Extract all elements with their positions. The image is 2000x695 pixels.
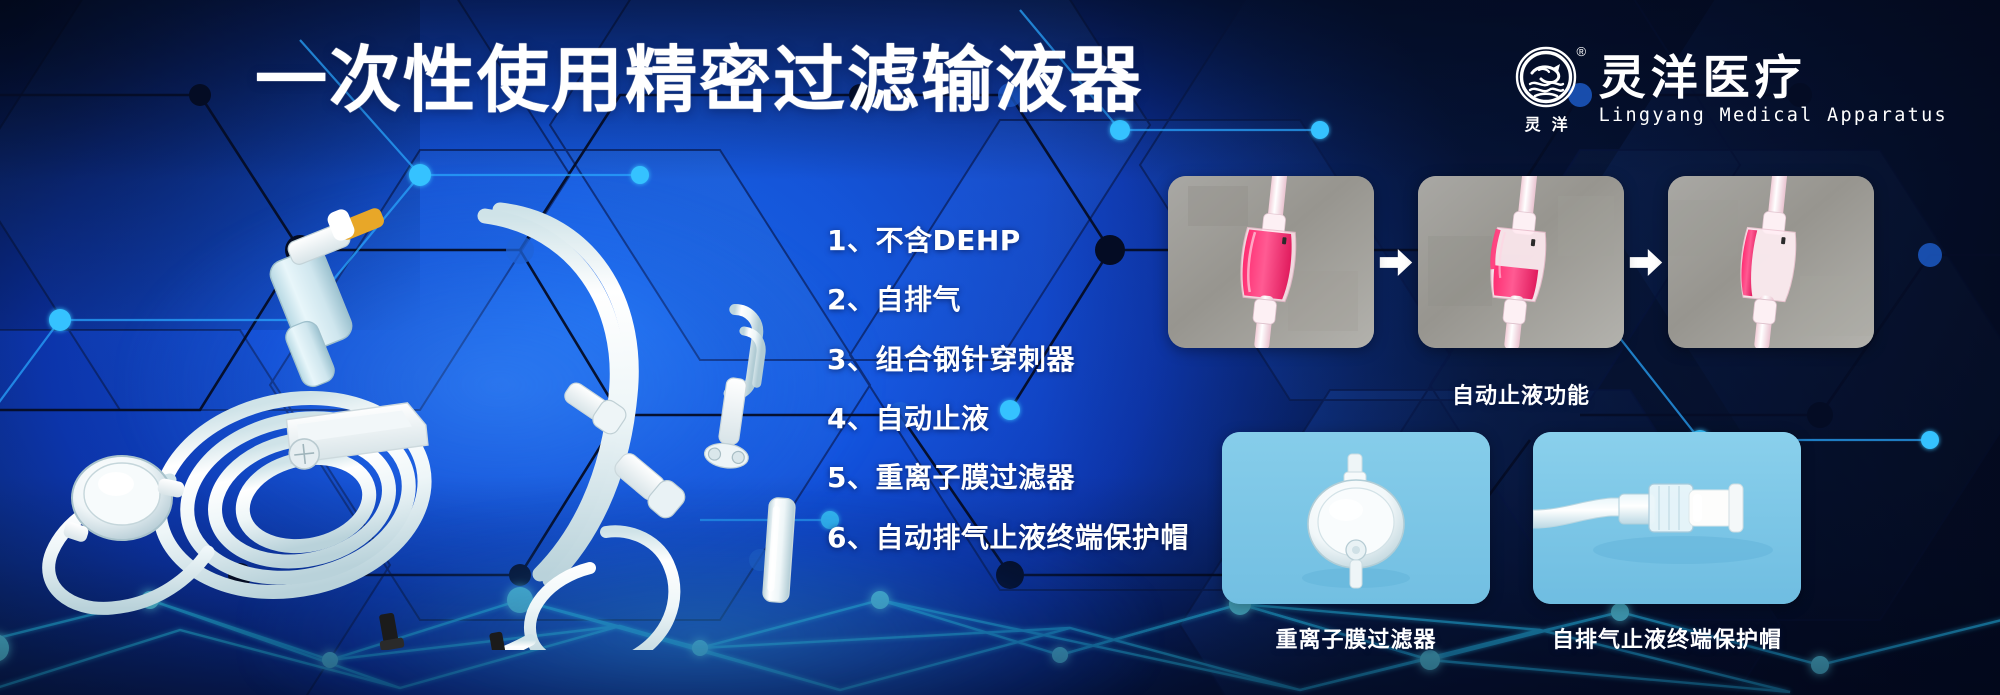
component-caption-row: 重离子膜过滤器 自排气止液终端保护帽 (1222, 622, 1801, 654)
photo-chamber-full (1168, 176, 1374, 348)
brand-seal-block: ® 灵洋 (1514, 46, 1579, 135)
feature-item-3: 3、组合钢针穿刺器 (827, 344, 1189, 375)
sequence-arrow-2-icon (1624, 176, 1668, 348)
feature-item-2: 2、自排气 (827, 284, 1189, 315)
brand-name-en: Lingyang Medical Apparatus (1599, 105, 1948, 126)
sequence-arrow-1-icon (1374, 176, 1418, 348)
photo-self-venting-terminal-cap (1533, 432, 1801, 604)
brand-logo: ® 灵洋 灵洋医疗 Lingyang Medical Apparatus (1514, 44, 1948, 136)
photo-chamber-half (1418, 176, 1624, 348)
product-banner: 一次性使用精密过滤输液器 ® 灵洋 灵洋医疗 (0, 0, 2000, 695)
caption-terminal-cap: 自排气止液终端保护帽 (1533, 622, 1801, 654)
page-title: 一次性使用精密过滤输液器 (255, 44, 1143, 116)
photo-chamber-empty (1668, 176, 1874, 348)
feature-item-6: 6、自动排气止液终端保护帽 (827, 522, 1189, 553)
registered-trademark-icon: ® (1577, 45, 1587, 58)
feature-item-1: 1、不含DEHP (827, 225, 1189, 256)
feature-item-4: 4、自动止液 (827, 403, 1189, 434)
feature-list: 1、不含DEHP 2、自排气 3、组合钢针穿刺器 4、自动止液 5、重离子膜过滤… (827, 225, 1189, 553)
photo-heavy-ion-membrane-filter (1222, 432, 1490, 604)
brand-name-cn: 灵洋医疗 (1599, 55, 1948, 102)
feature-item-5: 5、重离子膜过滤器 (827, 462, 1189, 493)
brand-name-block: 灵洋医疗 Lingyang Medical Apparatus (1599, 55, 1948, 126)
product-photo-infusion-set (30, 180, 810, 650)
caption-auto-stop: 自动止液功能 (1168, 378, 1874, 410)
company-seal-icon: ® (1515, 46, 1577, 108)
auto-stop-sequence (1168, 176, 1874, 348)
component-photo-row (1222, 432, 1801, 604)
caption-heavy-ion-filter: 重离子膜过滤器 (1222, 622, 1490, 654)
brand-seal-label: 灵洋 (1514, 111, 1579, 135)
